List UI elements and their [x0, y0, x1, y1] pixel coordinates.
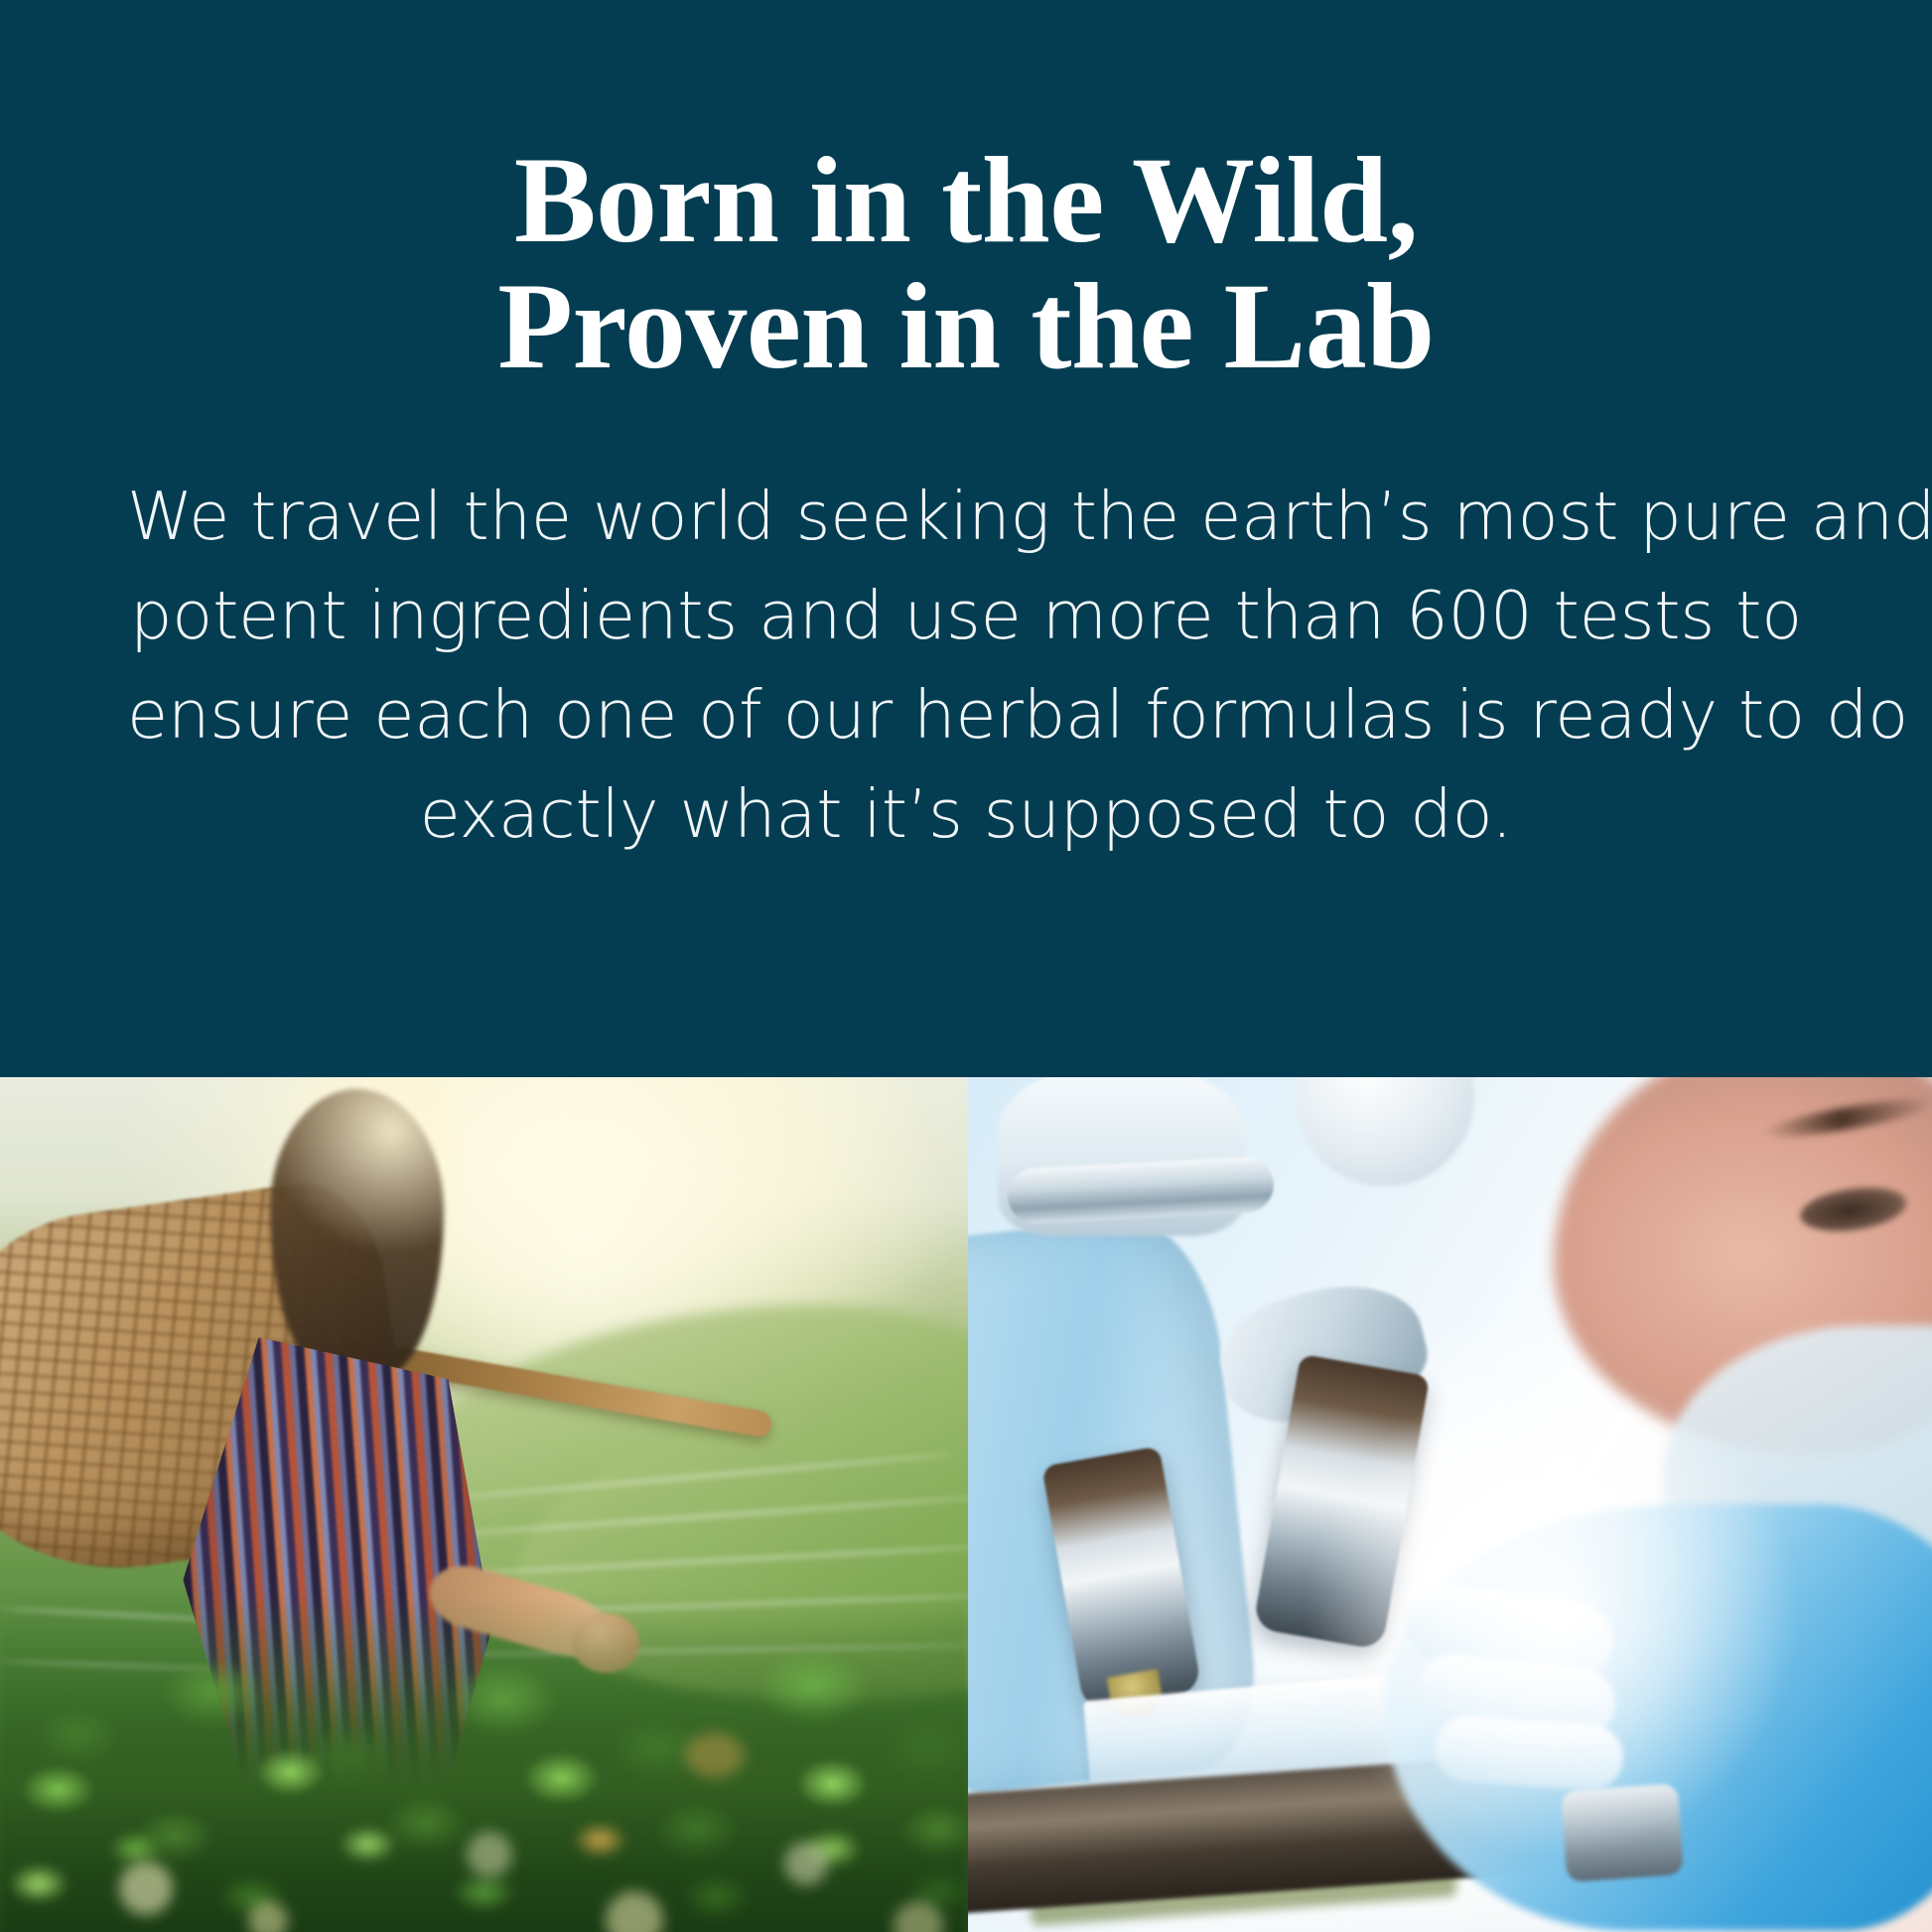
hero-body-copy: We travel the world seeking the earth’s … — [127, 467, 1805, 864]
bokeh-highlight — [119, 1862, 173, 1915]
tea-harvester-photo — [0, 1077, 968, 1932]
lab-microscope-photo — [968, 1077, 1932, 1932]
body-line-4: exactly what it’s supposed to do. — [127, 764, 1805, 864]
bokeh-highlight — [784, 1842, 828, 1885]
hero-panel: Born in the Wild, Proven in the Lab We t… — [0, 0, 1932, 1077]
gloved-finger — [1433, 1714, 1625, 1792]
image-strip — [0, 1077, 1932, 1932]
body-line-1: We travel the world seeking the earth’s … — [127, 467, 1805, 566]
bokeh-highlight — [685, 1732, 745, 1778]
focus-knob — [1561, 1783, 1684, 1882]
headline-line-1: Born in the Wild, — [162, 137, 1770, 263]
microscope-eyepiece — [1296, 1077, 1474, 1186]
headline-line-2: Proven in the Lab — [162, 263, 1770, 389]
body-line-3: ensure each one of our herbal formulas i… — [127, 665, 1805, 764]
backlight-halo — [260, 1079, 459, 1278]
bokeh-highlight — [467, 1832, 512, 1877]
promo-card: Born in the Wild, Proven in the Lab We t… — [0, 0, 1932, 1932]
body-line-2: potent ingredients and use more than 600… — [127, 566, 1805, 665]
page-title: Born in the Wild, Proven in the Lab — [162, 137, 1770, 389]
